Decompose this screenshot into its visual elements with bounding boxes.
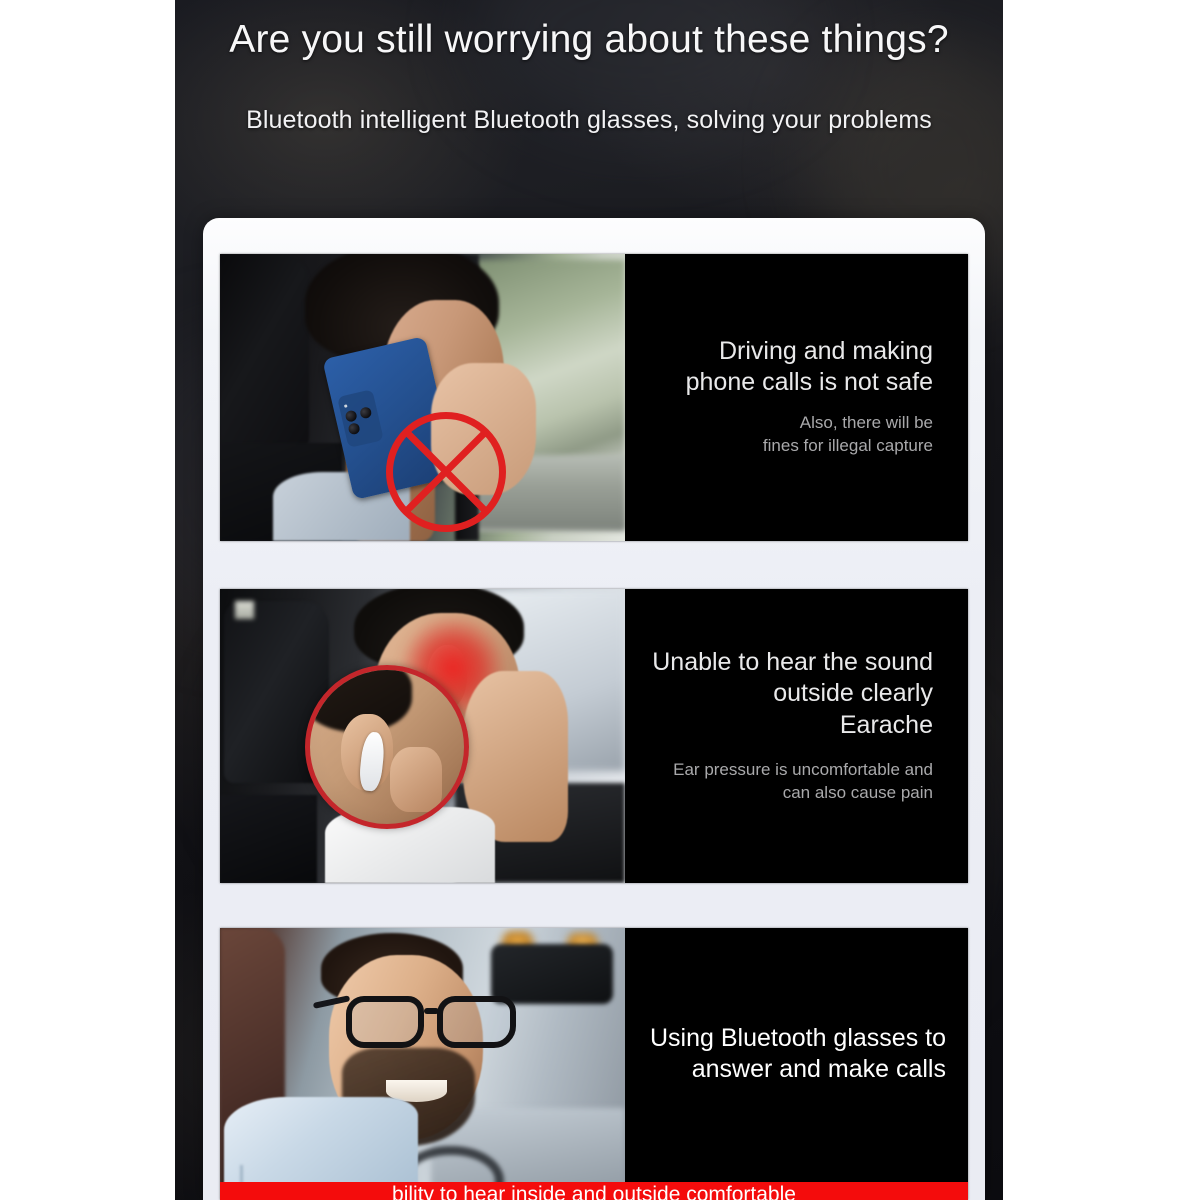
headline-line: Earache [633, 710, 933, 741]
zoom-hand [390, 747, 442, 812]
panel-image-earache [220, 589, 625, 883]
panel-text-earache: Unable to hear the sound outside clearly… [625, 589, 968, 883]
page-subtitle: Bluetooth intelligent Bluetooth glasses,… [175, 106, 1003, 135]
panel-headline: Unable to hear the sound outside clearly… [633, 647, 933, 741]
car-seat [220, 795, 317, 883]
panel-image-driving [220, 254, 625, 541]
feature-panel-driving: Driving and making phone calls is not sa… [220, 254, 968, 541]
panel-headline: Using Bluetooth glasses to answer and ma… [621, 1023, 946, 1086]
phone-camera-module [338, 389, 384, 447]
panel-subtext: Also, there will be fines for illegal ca… [683, 412, 933, 458]
scene-driving-phone [220, 254, 625, 541]
magnifier-circle-icon [305, 665, 469, 829]
product-listing-page: Are you still worrying about these thing… [0, 0, 1200, 1200]
page-title: Are you still worrying about these thing… [175, 18, 1003, 62]
subtext-line: fines for illegal capture [683, 435, 933, 458]
scene-bluetooth-glasses [220, 928, 625, 1200]
bluetooth-glasses-icon [346, 996, 516, 1048]
headrest-highlight [235, 601, 254, 619]
promo-banner: bility to hear inside and outside comfor… [220, 1182, 968, 1200]
subtext-line: can also cause pain [638, 782, 933, 805]
camera-flash-icon [344, 405, 348, 408]
headline-line: answer and make calls [621, 1054, 946, 1085]
headline-line: Unable to hear the sound [633, 647, 933, 678]
panel-text-glasses: Using Bluetooth glasses to answer and ma… [625, 928, 968, 1200]
prohibition-icon [386, 412, 506, 532]
feature-panel-earache: Unable to hear the sound outside clearly… [220, 589, 968, 883]
headline-line: Using Bluetooth glasses to [621, 1023, 946, 1054]
panel-subtext: Ear pressure is uncomfortable and can al… [638, 759, 933, 805]
promo-banner-text: bility to hear inside and outside comfor… [220, 1184, 968, 1200]
subtext-line: Also, there will be [683, 412, 933, 435]
glasses-lens-left [346, 996, 424, 1048]
header-block: Are you still worrying about these thing… [175, 0, 1003, 218]
camera-lens-icon [348, 422, 362, 435]
headline-line: Driving and making [643, 336, 933, 367]
car-headrest [220, 254, 309, 455]
camera-lens-icon [345, 409, 359, 422]
glasses-bridge [424, 1008, 439, 1014]
feature-panel-glasses: Using Bluetooth glasses to answer and ma… [220, 928, 968, 1200]
panel-text-driving: Driving and making phone calls is not sa… [625, 254, 968, 541]
subtext-line: Ear pressure is uncomfortable and [638, 759, 933, 782]
headline-line: outside clearly [633, 678, 933, 709]
panel-image-glasses [220, 928, 625, 1200]
camera-lens-icon [360, 406, 374, 419]
content-card: Driving and making phone calls is not sa… [203, 218, 985, 1200]
headline-line: phone calls is not safe [643, 367, 933, 398]
scene-earbud-pain [220, 589, 625, 883]
panel-headline: Driving and making phone calls is not sa… [643, 336, 933, 399]
glasses-lens-right [437, 996, 515, 1048]
